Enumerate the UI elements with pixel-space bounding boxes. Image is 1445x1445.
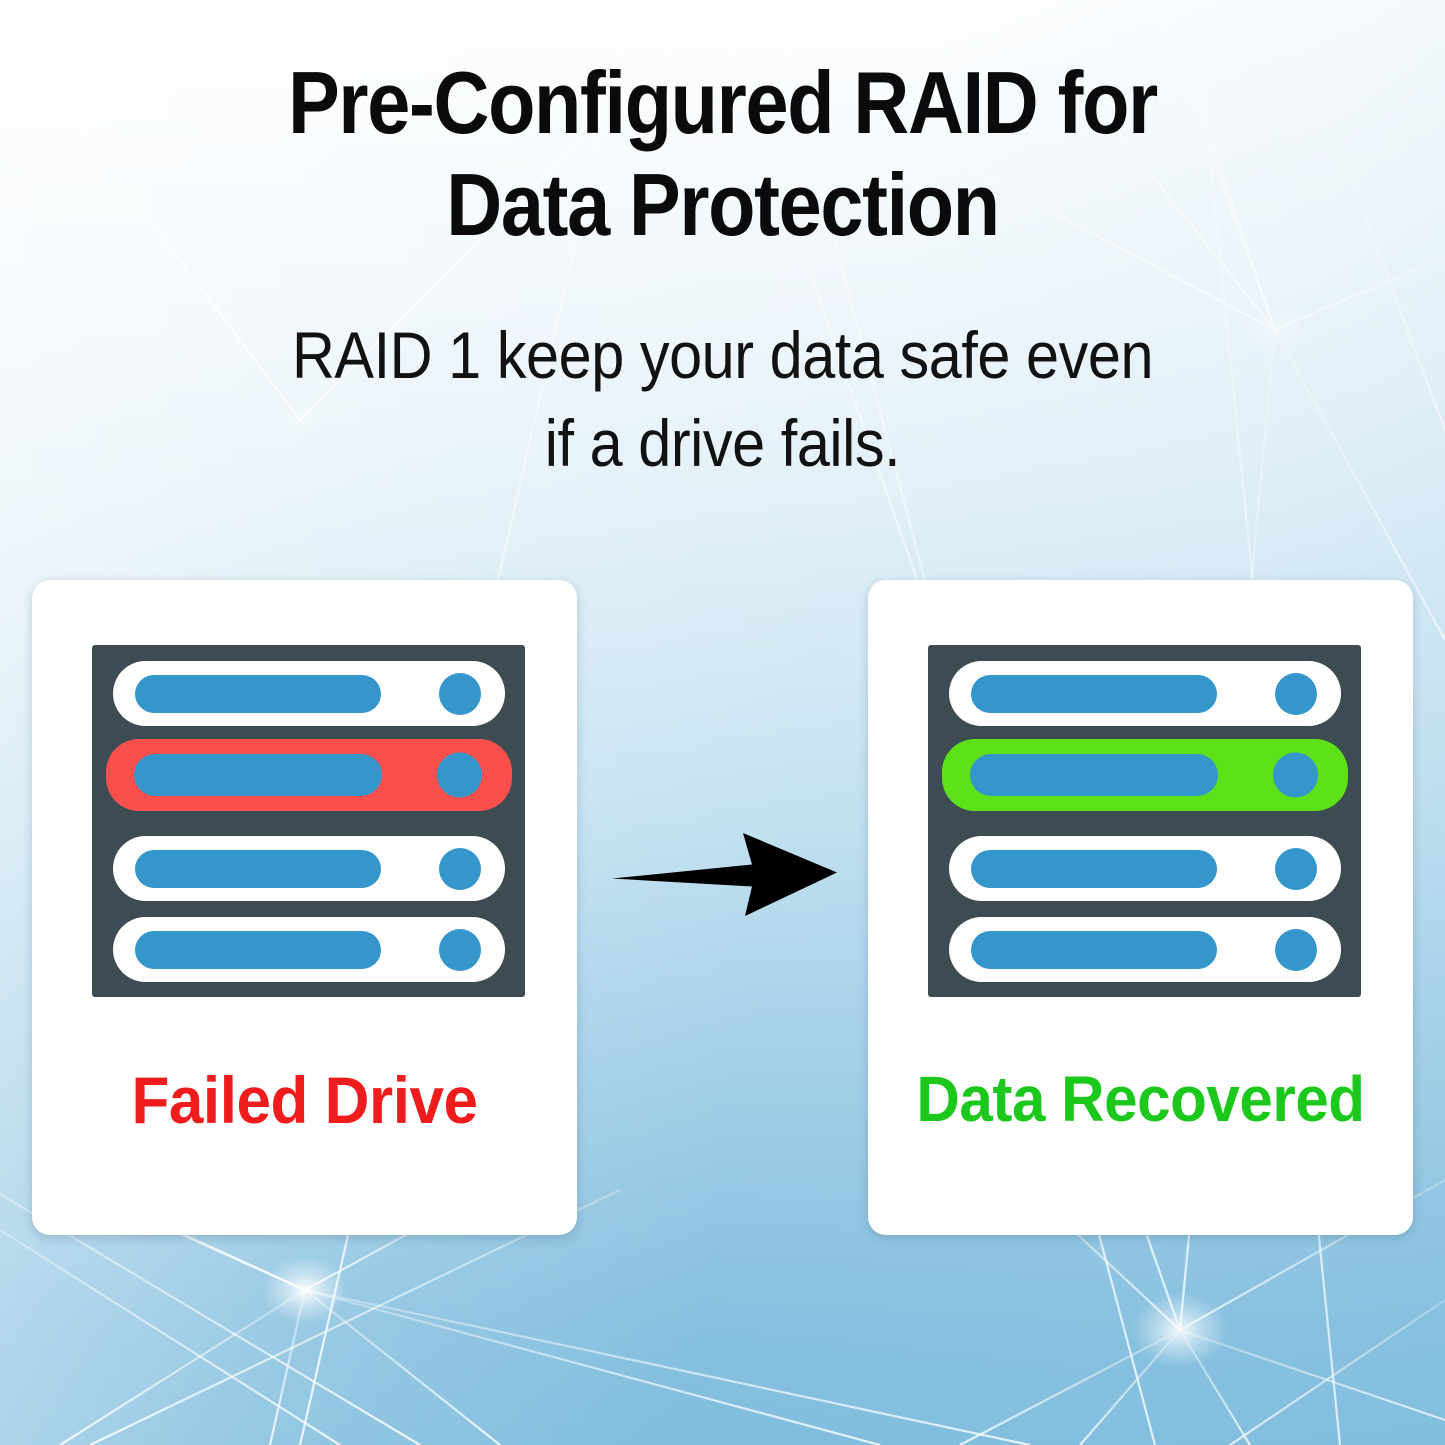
drive-led-icon: [439, 929, 481, 971]
drive-bay-3: [113, 836, 505, 901]
status-label-failed: Failed Drive: [48, 1067, 560, 1133]
drive-bar-icon: [134, 754, 382, 796]
server-chassis-recovered: [928, 645, 1361, 997]
drive-bay-1: [949, 661, 1341, 726]
drive-bar-icon: [971, 931, 1217, 969]
page-subtitle: RAID 1 keep your data safe even if a dri…: [72, 312, 1373, 488]
drive-led-icon: [439, 848, 481, 890]
panel-data-recovered: Data Recovered: [868, 580, 1413, 1235]
drive-bay-2-recovered: [942, 739, 1348, 811]
infographic-canvas: Pre-Configured RAID for Data Protection …: [0, 0, 1445, 1445]
status-label-recovered: Data Recovered: [884, 1067, 1396, 1131]
drive-led-icon: [1273, 753, 1318, 798]
drive-led-icon: [1275, 673, 1317, 715]
drive-bay-4: [113, 917, 505, 982]
drive-bar-icon: [135, 850, 381, 888]
drive-bar-icon: [135, 931, 381, 969]
server-chassis-failed: [92, 645, 525, 997]
panel-failed-drive: Failed Drive: [32, 580, 577, 1235]
page-title: Pre-Configured RAID for Data Protection: [87, 52, 1359, 256]
arrow-right-icon: [612, 828, 837, 920]
drive-bar-icon: [971, 675, 1217, 713]
drive-bar-icon: [971, 850, 1217, 888]
drive-led-icon: [439, 673, 481, 715]
drive-led-icon: [1275, 929, 1317, 971]
drive-bay-1: [113, 661, 505, 726]
drive-bay-2-failed: [106, 739, 512, 811]
drive-led-icon: [1275, 848, 1317, 890]
drive-bar-icon: [135, 675, 381, 713]
drive-led-icon: [437, 753, 482, 798]
drive-bay-3: [949, 836, 1341, 901]
drive-bar-icon: [970, 754, 1218, 796]
drive-bay-4: [949, 917, 1341, 982]
